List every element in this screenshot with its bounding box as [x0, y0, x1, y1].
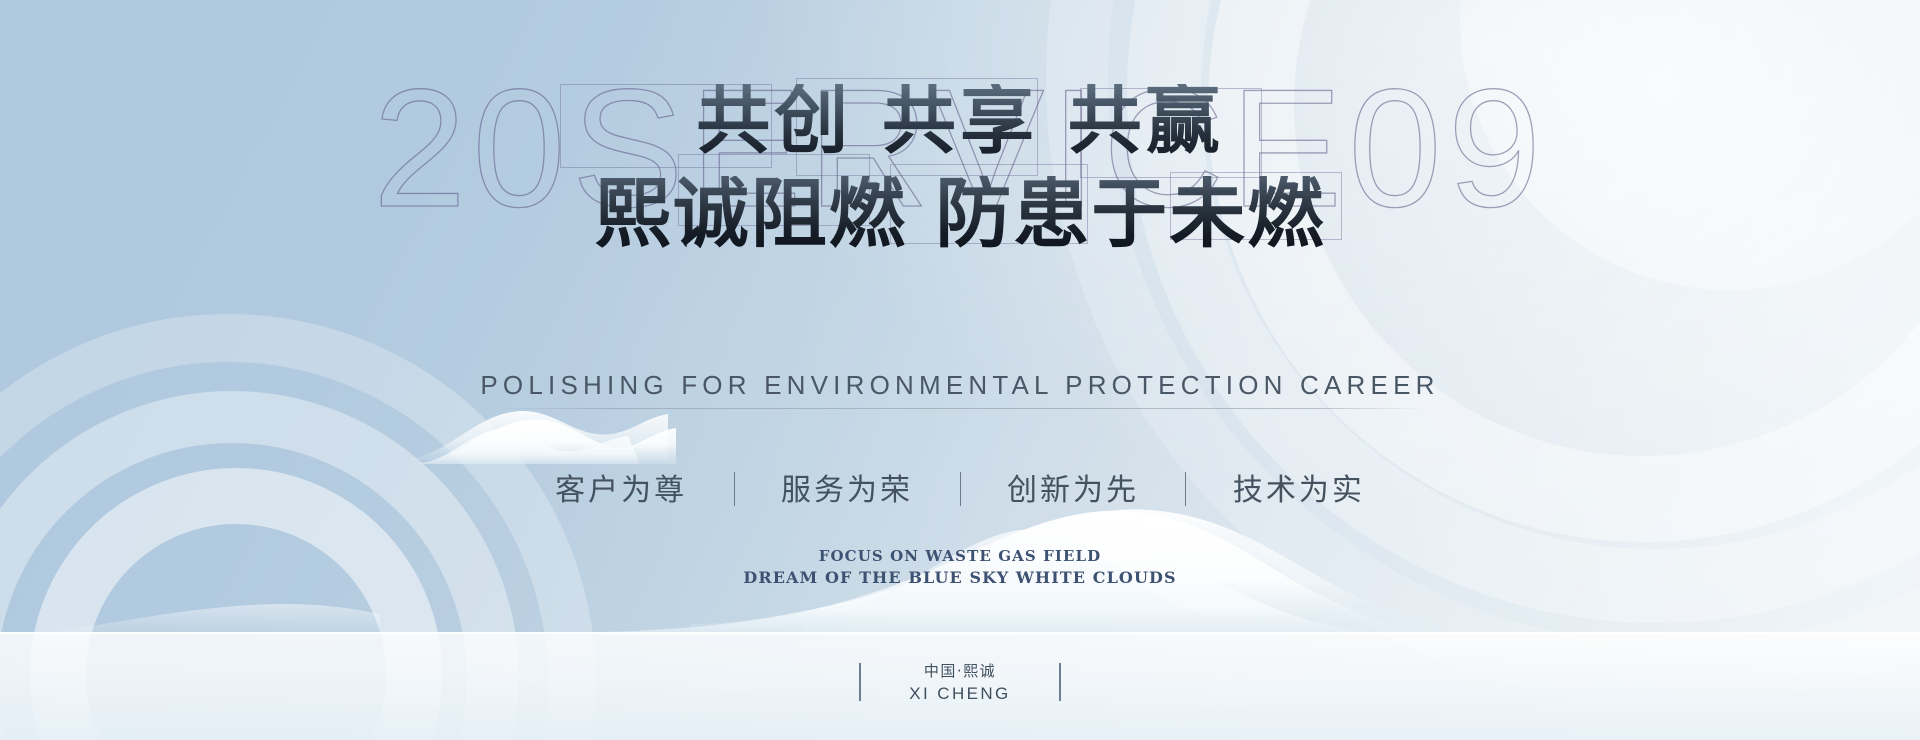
brand-name-en: XI CHENG [909, 684, 1010, 704]
value-divider [734, 472, 735, 506]
value-item-1: 客户为尊 [555, 465, 687, 509]
value-item-2: 服务为荣 [781, 465, 913, 509]
value-item-3: 创新为先 [1007, 465, 1139, 509]
brand-name-cn: 中国·熙诚 [909, 660, 1010, 681]
sub-slogan-line-2: DREAM OF THE BLUE SKY WHITE CLOUDS [0, 567, 1920, 589]
footer-brand: 中国·熙诚 XI CHENG [0, 660, 1920, 704]
value-item-4: 技术为实 [1233, 465, 1365, 509]
ground-band-edge [0, 632, 1920, 634]
value-divider [960, 472, 961, 506]
english-tagline: POLISHING FOR ENVIRONMENTAL PROTECTION C… [0, 370, 1920, 401]
brand-rule-left [859, 663, 861, 701]
value-divider [1185, 472, 1186, 506]
headline-line-1: 共创 共享 共赢 [0, 84, 1920, 158]
sub-slogan: FOCUS ON WASTE GAS FIELD DREAM OF THE BL… [0, 546, 1920, 589]
tagline-underline [496, 408, 1424, 409]
brand-rule-right [1059, 663, 1061, 701]
values-row: 客户为尊 服务为荣 创新为先 技术为实 [0, 465, 1920, 509]
banner-root: 20SERVICE09 共创 共享 共赢 熙诚阻燃 防患于未燃 POLISHIN… [0, 0, 1920, 740]
headline-line-2: 熙诚阻燃 防患于未燃 [0, 176, 1920, 252]
brand-text: 中国·熙诚 XI CHENG [909, 660, 1010, 704]
sub-slogan-line-1: FOCUS ON WASTE GAS FIELD [0, 546, 1920, 567]
